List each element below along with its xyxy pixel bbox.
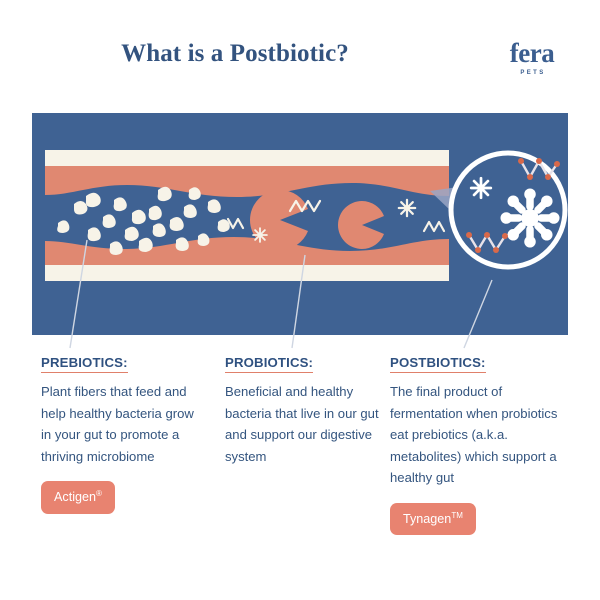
column-prebiotics: PREBIOTICS: Plant fibers that feed and h… bbox=[41, 354, 203, 514]
postbiotic-infographic: What is a Postbiotic? fera PETS bbox=[0, 0, 600, 600]
brand-logo-name: fera bbox=[492, 40, 572, 67]
brand-logo: fera PETS bbox=[492, 40, 572, 76]
gut-illustration-panel bbox=[32, 113, 568, 335]
definition-columns: PREBIOTICS: Plant fibers that feed and h… bbox=[0, 354, 600, 534]
column-postbiotics: POSTBIOTICS: The final product of fermen… bbox=[390, 354, 565, 535]
column-body-probiotics: Beneficial and healthy bacteria that liv… bbox=[225, 381, 387, 467]
magnifier-circle bbox=[451, 153, 565, 267]
gut-wall-top bbox=[45, 150, 449, 166]
badge-label-actigen: Actigen bbox=[54, 490, 96, 504]
badge-mark-tynagen: TM bbox=[451, 511, 463, 520]
column-probiotics: PROBIOTICS: Beneficial and healthy bacte… bbox=[225, 354, 387, 467]
brand-logo-sub: PETS bbox=[492, 70, 572, 76]
column-body-prebiotics: Plant fibers that feed and help healthy … bbox=[41, 381, 203, 467]
badge-mark-actigen: ® bbox=[96, 489, 102, 498]
gut-wall-bottom bbox=[45, 265, 449, 281]
column-heading-postbiotics: POSTBIOTICS: bbox=[390, 355, 486, 373]
ingredient-badge-tynagen[interactable]: TynagenTM bbox=[390, 503, 476, 536]
column-heading-probiotics: PROBIOTICS: bbox=[225, 355, 313, 373]
ingredient-badge-actigen[interactable]: Actigen® bbox=[41, 481, 115, 514]
column-heading-prebiotics: PREBIOTICS: bbox=[41, 355, 128, 373]
column-body-postbiotics: The final product of fermentation when p… bbox=[390, 381, 565, 489]
badge-label-tynagen: Tynagen bbox=[403, 512, 451, 526]
page-title: What is a Postbiotic? bbox=[0, 40, 470, 68]
